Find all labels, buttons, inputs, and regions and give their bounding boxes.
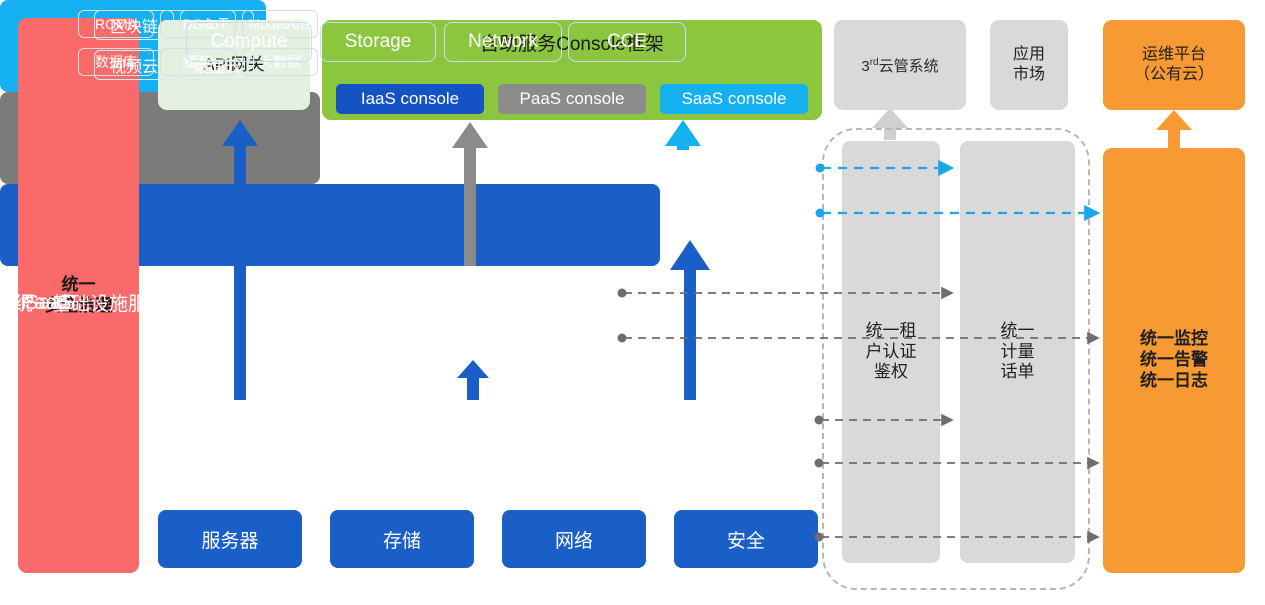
app-market-box[interactable]: 应用 市场 [990,20,1068,110]
iaas-console-chip[interactable]: IaaS console [336,84,484,114]
hardware-box-server[interactable]: 服务器 [158,510,302,568]
arrow-saas-to-console [665,120,701,150]
infra-pill-compute[interactable]: Compute [186,22,312,62]
hardware-box-storage[interactable]: 存储 [330,510,474,568]
infra-pill-storage[interactable]: Storage [320,22,436,62]
arrow-infra-to-paas [457,360,489,400]
hardware-box-security[interactable]: 安全 [674,510,818,568]
saas-console-chip[interactable]: SaaS console [660,84,808,114]
third-party-cloud-label: 3rd云管系统 [861,55,938,76]
hardware-box-network[interactable]: 网络 [502,510,646,568]
third-party-cloud-mgmt-box[interactable]: 3rd云管系统 [834,20,966,110]
paas-console-chip[interactable]: PaaS console [498,84,646,114]
ops-platform-label: 运维平台 （公有云） [1134,45,1214,84]
unified-monitoring-label: 统一监控 统一告警 统一日志 [1140,329,1208,391]
app-market-label: 应用 市场 [1013,45,1045,84]
unified-monitoring-panel[interactable]: 统一监控 统一告警 统一日志 [1103,148,1245,573]
unified-metering-billing-label: 统一 计量 话单 [1001,321,1035,383]
third-party-superscript: rd [870,57,879,68]
unified-infrastructure-panel[interactable]: 统一基础设施服务 Compute Storage Network CCE [0,184,660,266]
unified-metering-billing-column[interactable]: 统一 计量 话单 [960,141,1075,563]
architecture-diagram: 统一 安全治理 API网关 自助服务Console框架 IaaS console… [0,0,1265,605]
arrow-ops-to-ops-platform [1156,110,1192,148]
arrow-infra-to-saas [670,240,710,400]
unified-tenant-auth-column[interactable]: 统一租 户认证 鉴权 [842,141,940,563]
infra-pill-network[interactable]: Network [444,22,562,62]
infra-pill-cce[interactable]: CCE [568,22,686,62]
unified-tenant-auth-label: 统一租 户认证 鉴权 [866,321,917,383]
ops-platform-public-cloud-box[interactable]: 运维平台 （公有云） [1103,20,1245,110]
unified-infrastructure-label: 统一基础设施服务 [14,0,166,605]
